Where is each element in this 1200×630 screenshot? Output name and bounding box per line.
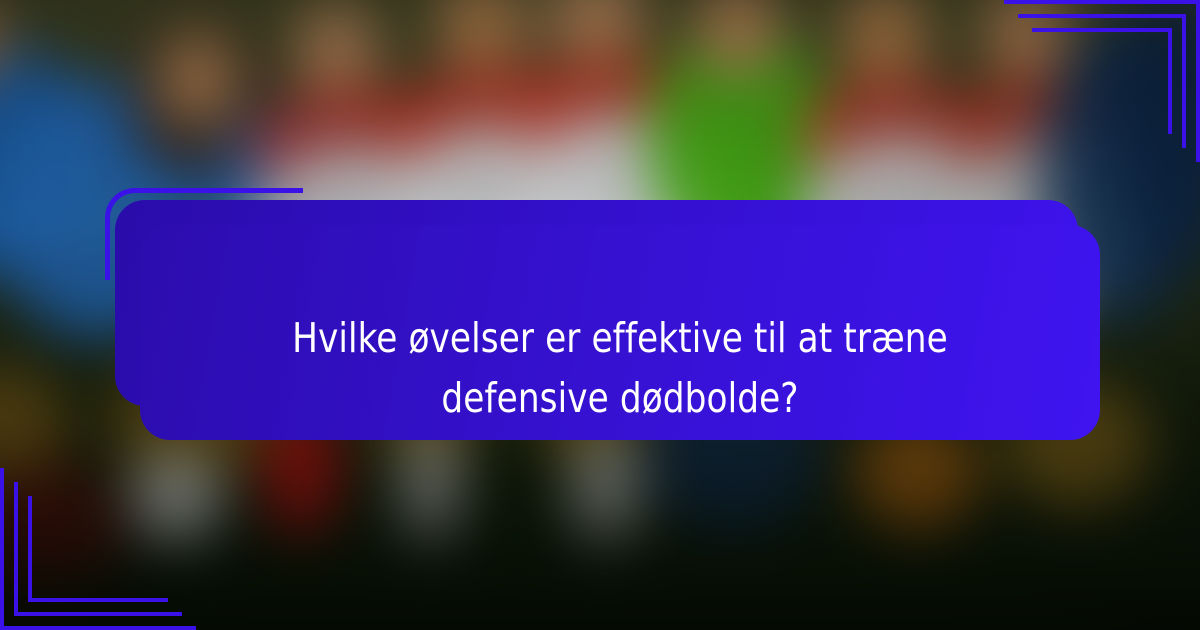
social-card-canvas: Hvilke øvelser er effektive til at træne…: [0, 0, 1200, 630]
question-card: Hvilke øvelser er effektive til at træne…: [140, 225, 1100, 440]
card-headline: Hvilke øvelser er effektive til at træne…: [239, 309, 1002, 428]
